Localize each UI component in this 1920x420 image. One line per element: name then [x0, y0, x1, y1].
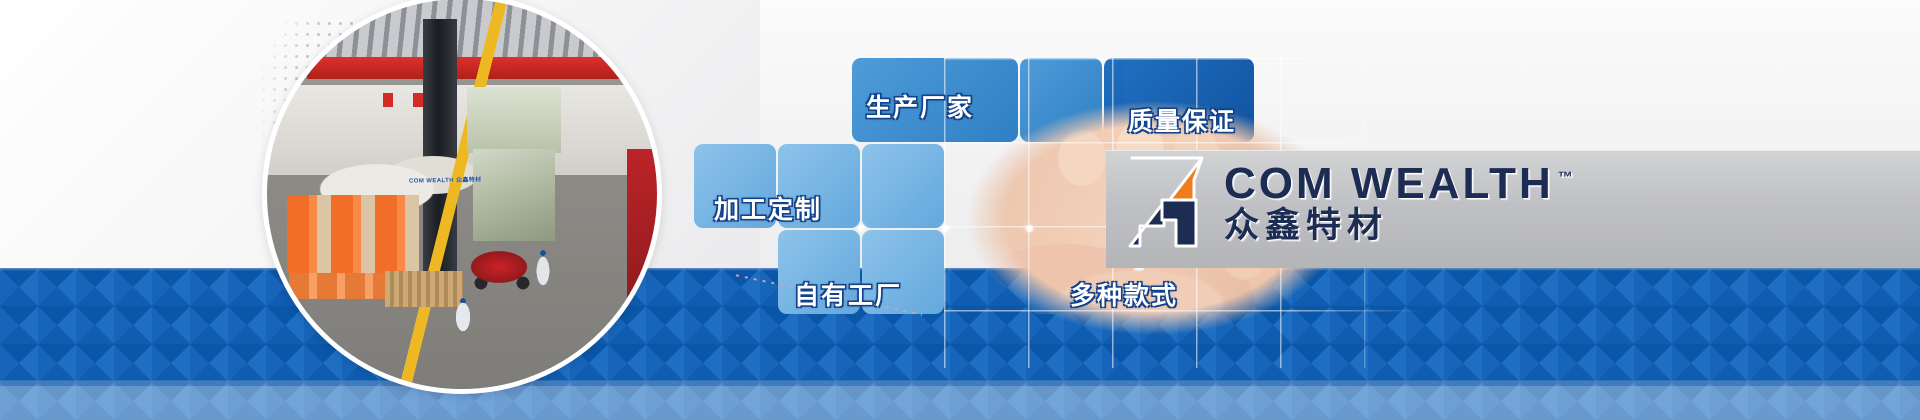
factory-photo-circle: COM WEALTH 众鑫特材 — [262, 0, 662, 394]
brand-logo[interactable]: COM WEALTH™ 众鑫特材 — [1124, 154, 1573, 250]
photo-watermark: COM WEALTH 众鑫特材 — [409, 174, 482, 184]
grid-node-dot — [942, 225, 949, 232]
tile-filler-r2b — [862, 144, 944, 228]
promo-banner: COM WEALTH 众鑫特材 生产厂家 质量保证 加工定制 自有工厂 多种款式 — [0, 0, 1920, 420]
trademark-symbol: ™ — [1558, 169, 1573, 186]
grid-node-dot — [858, 225, 865, 232]
brand-wordmark: COM WEALTH™ 众鑫特材 — [1224, 160, 1573, 245]
brand-name-en: COM WEALTH™ — [1224, 162, 1573, 207]
tile-label-manufacturer: 生产厂家 — [866, 88, 974, 124]
z-monogram-icon — [1124, 154, 1210, 250]
factory-interior-photo — [267, 0, 657, 389]
tile-label-quality: 质量保证 — [1128, 102, 1236, 138]
tile-label-own-factory: 自有工厂 — [794, 276, 902, 312]
brand-name-cn: 众鑫特材 — [1224, 208, 1573, 245]
tile-label-customization: 加工定制 — [714, 190, 822, 226]
grid-node-dot — [1026, 225, 1033, 232]
tile-label-many-styles: 多种款式 — [1070, 276, 1178, 312]
